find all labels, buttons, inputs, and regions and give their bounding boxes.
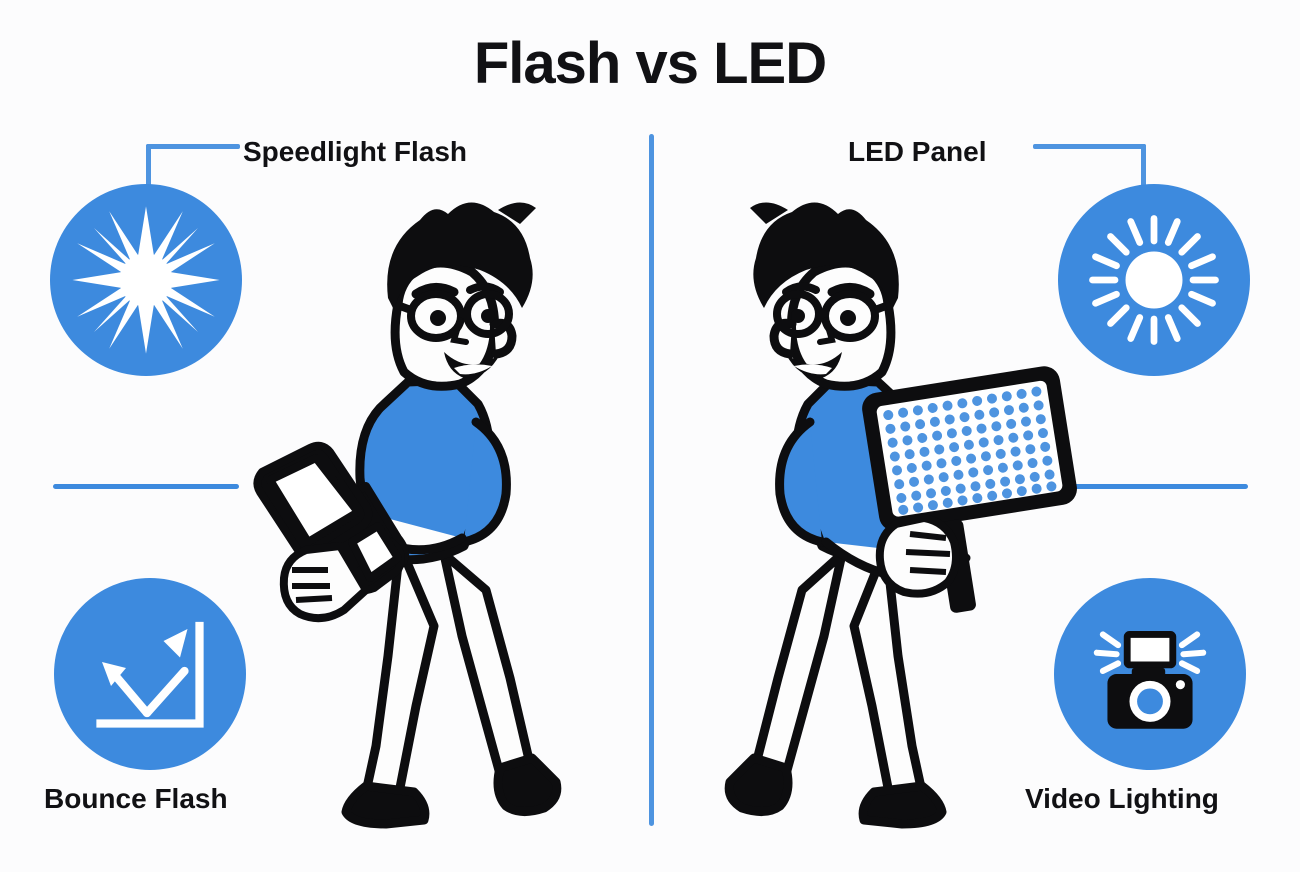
left-section-rule <box>53 484 239 489</box>
right-section-rule <box>1060 484 1248 489</box>
photographer-ledpanel-illustration <box>700 186 1060 836</box>
sun-rays-icon <box>1058 184 1250 376</box>
camera-with-flash-icon <box>1054 578 1246 770</box>
infographic-canvas: Flash vs LED Speedlight Flash LED Panel … <box>0 0 1300 872</box>
led-panel-label: LED Panel <box>848 136 986 168</box>
starburst-flash-icon <box>50 184 242 376</box>
bounce-flash-arrows-icon <box>54 578 246 770</box>
photographer-speedlight-illustration <box>248 186 588 836</box>
speedlight-flash-label: Speedlight Flash <box>243 136 467 168</box>
page-title: Flash vs LED <box>0 30 1300 97</box>
center-divider <box>649 134 654 826</box>
bounce-flash-label: Bounce Flash <box>44 783 228 815</box>
